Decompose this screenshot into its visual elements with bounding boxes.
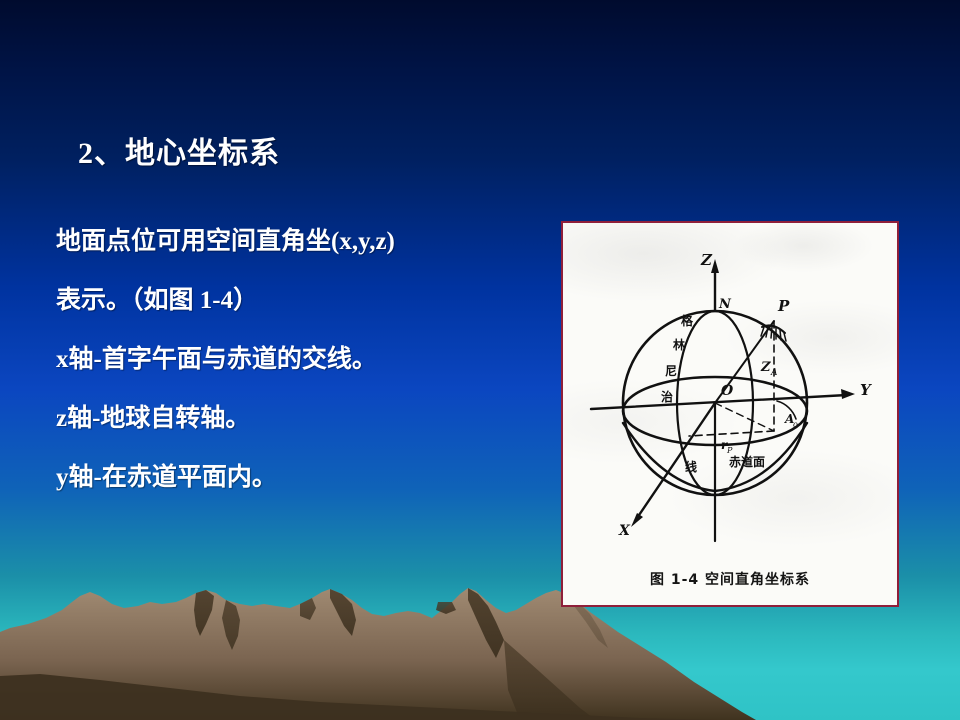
slide-canvas: 2、地心坐标系 地面点位可用空间直角坐(x,y,z) 表示。（如图 1-4） x…: [0, 0, 960, 720]
label-greenwich-char: 格: [681, 313, 694, 328]
label-y-axis: Y: [860, 381, 872, 399]
label-x-axis: X: [618, 523, 631, 539]
label-z-component-subscript: A: [770, 368, 778, 378]
label-greenwich-char: 尼: [665, 364, 677, 378]
label-z-axis: Z: [700, 251, 713, 269]
label-meridian-line: 线: [685, 459, 697, 474]
label-z-component: Z: [760, 360, 771, 375]
label-origin: O: [721, 383, 734, 399]
body-line: y轴-在赤道平面内。: [56, 448, 526, 507]
label-greenwich-char: 林: [673, 337, 685, 352]
label-r-component-subscript: P: [726, 446, 733, 455]
label-angle-subscript: o: [793, 420, 798, 429]
body-text-block: 地面点位可用空间直角坐(x,y,z) 表示。（如图 1-4） x轴-首字午面与赤…: [56, 212, 526, 507]
label-equatorial-plane: 赤道面: [729, 454, 765, 469]
coordinate-system-diagram: Z Y X N O P Z A r P A o 格 林 尼 治 线 赤道面: [563, 223, 897, 605]
label-point-p: P: [777, 297, 790, 315]
body-line: 表示。（如图 1-4）: [56, 271, 526, 330]
label-greenwich-char: 治: [661, 389, 673, 404]
body-line: 地面点位可用空间直角坐(x,y,z): [56, 212, 526, 271]
label-north-pole: N: [718, 297, 732, 312]
figure-image-frame: Z Y X N O P Z A r P A o 格 林 尼 治 线 赤道面: [561, 221, 899, 607]
figure-caption: 图 1-4 空间直角坐标系: [563, 569, 897, 589]
page-title: 2、地心坐标系: [78, 128, 280, 172]
body-line: x轴-首字午面与赤道的交线。: [56, 330, 526, 389]
body-line: z轴-地球自转轴。: [56, 389, 526, 448]
